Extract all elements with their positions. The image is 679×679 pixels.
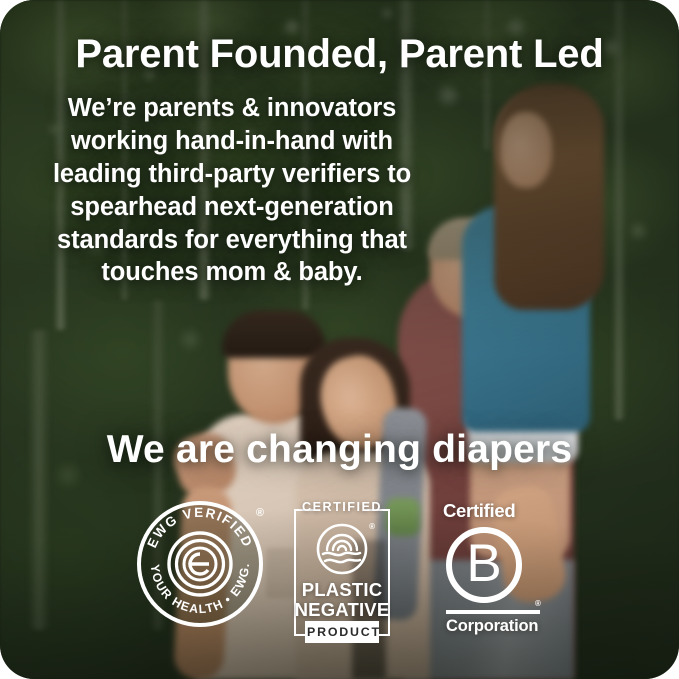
content-layer: Parent Founded, Parent Led We’re parents… [0, 0, 679, 679]
page-title: Parent Founded, Parent Led [0, 32, 679, 77]
b-corp-corporation-label: Corporation [446, 617, 538, 636]
plastic-negative-badge: CERTIFIED ® [294, 500, 390, 636]
plastic-negative-title-line-1: PLASTIC [294, 580, 390, 600]
ewg-spiral-e-icon [167, 531, 233, 597]
ad-card: Parent Founded, Parent Led We’re parents… [0, 0, 679, 679]
b-corporation-badge: Certified B ® Corporation [443, 500, 547, 636]
plastic-negative-title: PLASTIC NEGATIVE [294, 580, 390, 620]
tagline: We are changing diapers [0, 430, 679, 469]
plastic-negative-certified-label: CERTIFIED [294, 500, 390, 514]
plastic-negative-registered-mark: ® [369, 522, 375, 531]
certification-badges-row: EWG VERIFIED FOR YOUR HEALTH • EWG.ORG [0, 498, 679, 643]
brand-description: We’re parents & innovators working hand-… [36, 92, 428, 289]
b-corp-letter: B [466, 537, 501, 590]
plastic-negative-title-line-2: NEGATIVE [294, 600, 390, 620]
ewg-verified-seal: EWG VERIFIED FOR YOUR HEALTH • EWG.ORG [137, 501, 263, 627]
ocean-waves-icon [316, 523, 368, 575]
b-corp-certified-label: Certified [443, 500, 515, 522]
b-corp-registered-mark: ® [535, 599, 541, 608]
plastic-negative-product-label: PRODUCT [305, 621, 379, 643]
b-corp-circle-b-icon: B [446, 527, 522, 603]
b-corp-divider [446, 610, 540, 614]
ewg-registered-mark: ® [256, 507, 264, 519]
